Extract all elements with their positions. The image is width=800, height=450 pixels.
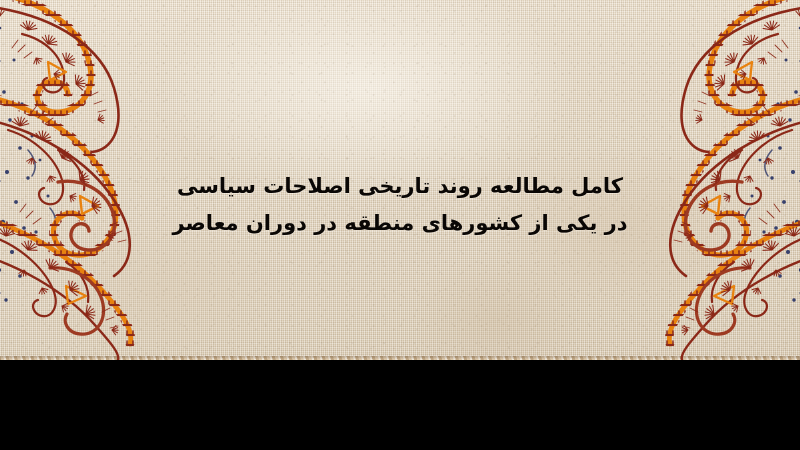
tassel-fringe	[0, 360, 800, 450]
caption-line-1: کامل مطالعه روند تاریخی اصلاحات سیاسی	[0, 168, 800, 205]
fringe-background	[0, 360, 800, 450]
banner-image: کامل مطالعه روند تاریخی اصلاحات سیاسی در…	[0, 0, 800, 450]
caption-line-2: در یکی از کشورهای منطقه در دوران معاصر	[0, 205, 800, 242]
banner-caption: کامل مطالعه روند تاریخی اصلاحات سیاسی در…	[0, 168, 800, 242]
